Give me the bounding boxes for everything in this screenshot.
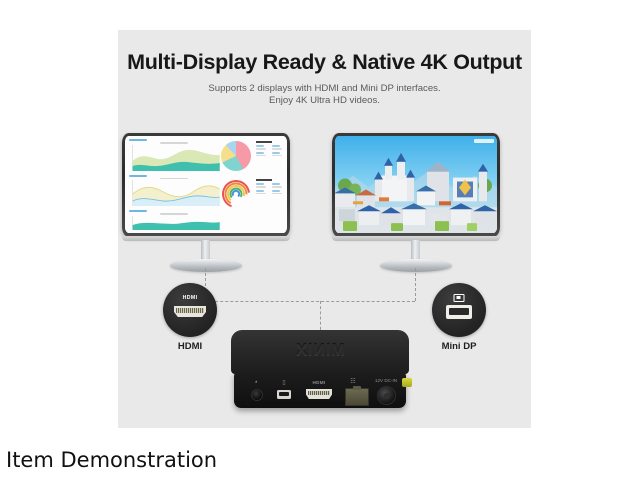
game-hud-badge — [474, 139, 494, 143]
legend-header — [256, 179, 272, 181]
radial-chart — [221, 179, 251, 209]
subtitle-line-1: Supports 2 displays with HDMI and Mini D… — [118, 83, 531, 95]
monitor-bezel — [122, 133, 290, 237]
ethernet-port-icon: ☷ — [346, 378, 360, 385]
headphone-jack-icon: ◕ — [250, 379, 262, 384]
legend-header — [256, 141, 272, 143]
right-monitor — [332, 133, 500, 237]
area-chart-1 — [129, 145, 220, 171]
hdmi-port — [306, 389, 332, 399]
legend-cell — [256, 190, 267, 195]
chart-subtitle-bar — [160, 142, 188, 144]
legend-cell — [256, 183, 267, 188]
radial-card — [219, 177, 284, 209]
mini-displayport-port — [277, 390, 291, 399]
monitor-screen-right — [335, 136, 497, 233]
area-chart-3 — [129, 216, 220, 230]
legend-cell — [272, 190, 283, 195]
legend-cell — [256, 152, 267, 157]
chart-title-bar — [129, 139, 147, 141]
page-title: Multi-Display Ready & Native 4K Output — [118, 50, 531, 75]
hdmi-port-label: HDMI — [178, 341, 202, 352]
area-chart-card-3 — [129, 210, 220, 230]
line-chart-2 — [129, 180, 220, 206]
audio-jack-port — [251, 389, 263, 401]
left-monitor-stand-base — [170, 259, 242, 272]
chart-subtitle-bar — [160, 178, 188, 180]
connector-horizontal — [205, 301, 415, 302]
pie-legend — [255, 139, 284, 160]
monitor-screen-left — [125, 136, 287, 233]
radial-arcs — [221, 179, 251, 209]
area-series-5 — [133, 221, 220, 229]
dashboard-content — [125, 136, 287, 233]
legend-row — [256, 145, 283, 150]
radial-legend — [255, 177, 284, 198]
page-subtitle: Supports 2 displays with HDMI and Mini D… — [118, 83, 531, 107]
legend-cell — [272, 152, 283, 157]
antenna-connector — [402, 378, 412, 387]
device-top-shell: MINIX — [231, 330, 409, 374]
hdmi-port-icon — [174, 306, 206, 317]
chart-title-bar — [129, 210, 147, 212]
right-monitor-stand-base — [380, 259, 452, 272]
legend-row — [256, 183, 283, 188]
dashboard-right-column — [219, 139, 284, 231]
chart-title-bar — [129, 175, 147, 177]
game-scene-art — [335, 136, 497, 233]
subtitle-line-2: Enjoy 4K Ultra HD videos. — [118, 95, 531, 107]
line-chart-card-2 — [129, 175, 220, 207]
legend-cell — [272, 183, 283, 188]
dashboard-left-column — [129, 139, 220, 231]
hdmi-label: HDMI — [304, 380, 334, 385]
mini-displayport-symbol-icon — [454, 294, 465, 302]
area-chart-card-1 — [129, 139, 220, 171]
minidp-port-label: Mini DP — [442, 341, 477, 352]
legend-cell — [256, 145, 267, 150]
monitor-bezel — [332, 133, 500, 237]
dc-power-port — [377, 386, 396, 405]
mini-displayport-icon — [446, 305, 472, 319]
left-monitor — [122, 133, 290, 237]
minidp-port-circle — [432, 283, 486, 337]
legend-cell — [272, 145, 283, 150]
image-caption: Item Demonstration — [6, 448, 217, 472]
device-rear-panel: ◕ ▯ HDMI ☷ 12V DC-IN — [234, 372, 406, 408]
pie-card — [219, 139, 284, 171]
mini-displayport-icon: ▯ — [277, 379, 291, 386]
hdmi-wordmark: HDMI — [183, 295, 198, 301]
chart-subtitle-bar — [160, 213, 188, 215]
product-image-screenshot: Multi-Display Ready & Native 4K Output S… — [0, 0, 640, 480]
minix-device: MINIX ◕ ▯ HDMI ☷ 12V DC-IN — [231, 330, 409, 412]
device-port-row: ◕ ▯ HDMI ☷ 12V DC-IN — [234, 372, 406, 408]
ethernet-port — [345, 388, 369, 406]
connector-right-vertical — [415, 268, 416, 301]
minidp-port-callout: Mini DP — [432, 283, 486, 337]
legend-row — [256, 152, 283, 157]
dc-power-label: 12V DC-IN — [372, 378, 400, 383]
hdmi-port-callout: HDMI HDMI — [163, 283, 217, 337]
pie-chart — [221, 141, 251, 171]
legend-row — [256, 190, 283, 195]
minix-logo: MINIX — [295, 342, 344, 360]
game-scene — [335, 136, 497, 233]
hdmi-port-circle: HDMI — [163, 283, 217, 337]
